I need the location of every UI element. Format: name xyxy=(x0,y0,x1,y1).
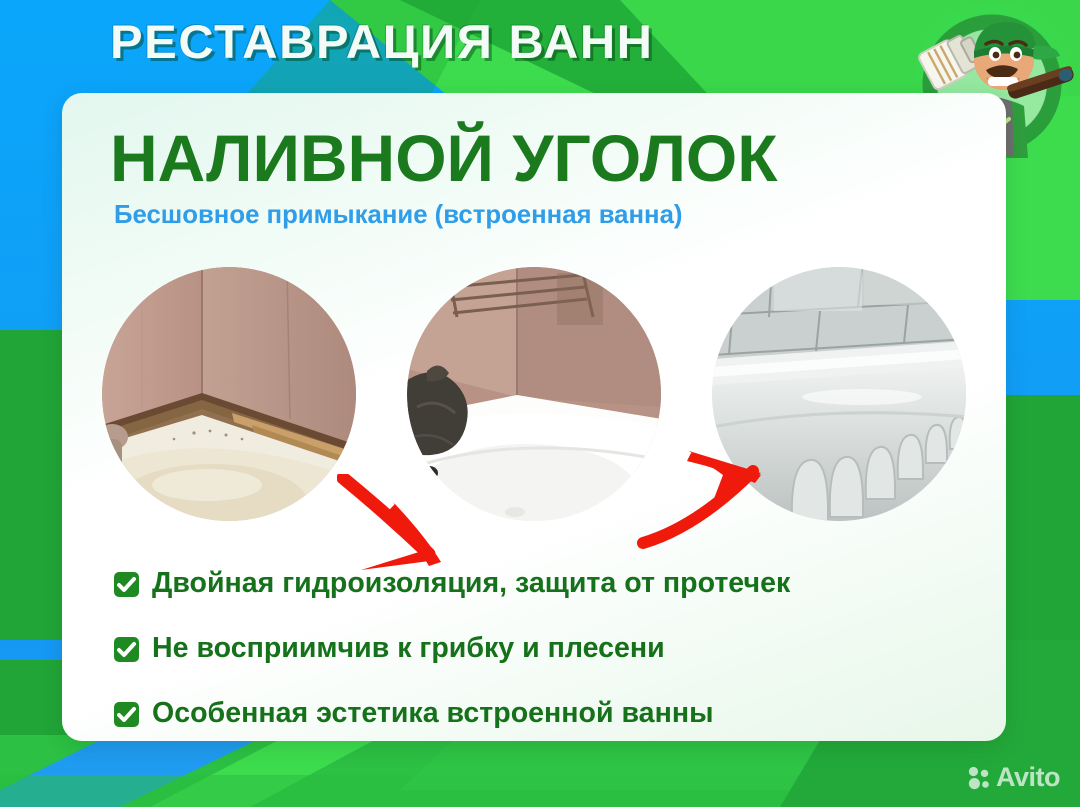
page-title: НАЛИВНОЙ УГОЛОК xyxy=(110,120,778,196)
list-item: Двойная гидроизоляция, защита от протече… xyxy=(114,555,974,612)
photo-gallery xyxy=(62,261,1006,551)
feature-label: Особенная эстетика встроенной ванны xyxy=(152,697,713,730)
avito-watermark: Avito xyxy=(967,762,1060,793)
checkmark-icon xyxy=(114,702,139,727)
avito-label: Avito xyxy=(996,762,1060,793)
checkmark-icon xyxy=(114,637,139,662)
list-item: Особенная эстетика встроенной ванны xyxy=(114,685,974,741)
before-photo xyxy=(102,267,357,522)
arrow-step-2-to-3 xyxy=(637,431,772,551)
feature-label: Двойная гидроизоляция, защита от протече… xyxy=(152,567,790,600)
feature-list: Двойная гидроизоляция, защита от протече… xyxy=(114,555,974,741)
header-title: РЕСТАВРАЦИЯ ВАНН xyxy=(110,14,654,69)
checkmark-icon xyxy=(114,572,139,597)
promo-card: НАЛИВНОЙ УГОЛОК Бесшовное примыкание (вс… xyxy=(62,93,1006,741)
list-item: Не восприимчив к грибку и плесени xyxy=(114,620,974,677)
feature-label: Не восприимчив к грибку и плесени xyxy=(152,632,665,665)
page-subtitle: Бесшовное примыкание (встроенная ванна) xyxy=(114,199,682,230)
avito-dots-icon xyxy=(967,766,991,790)
